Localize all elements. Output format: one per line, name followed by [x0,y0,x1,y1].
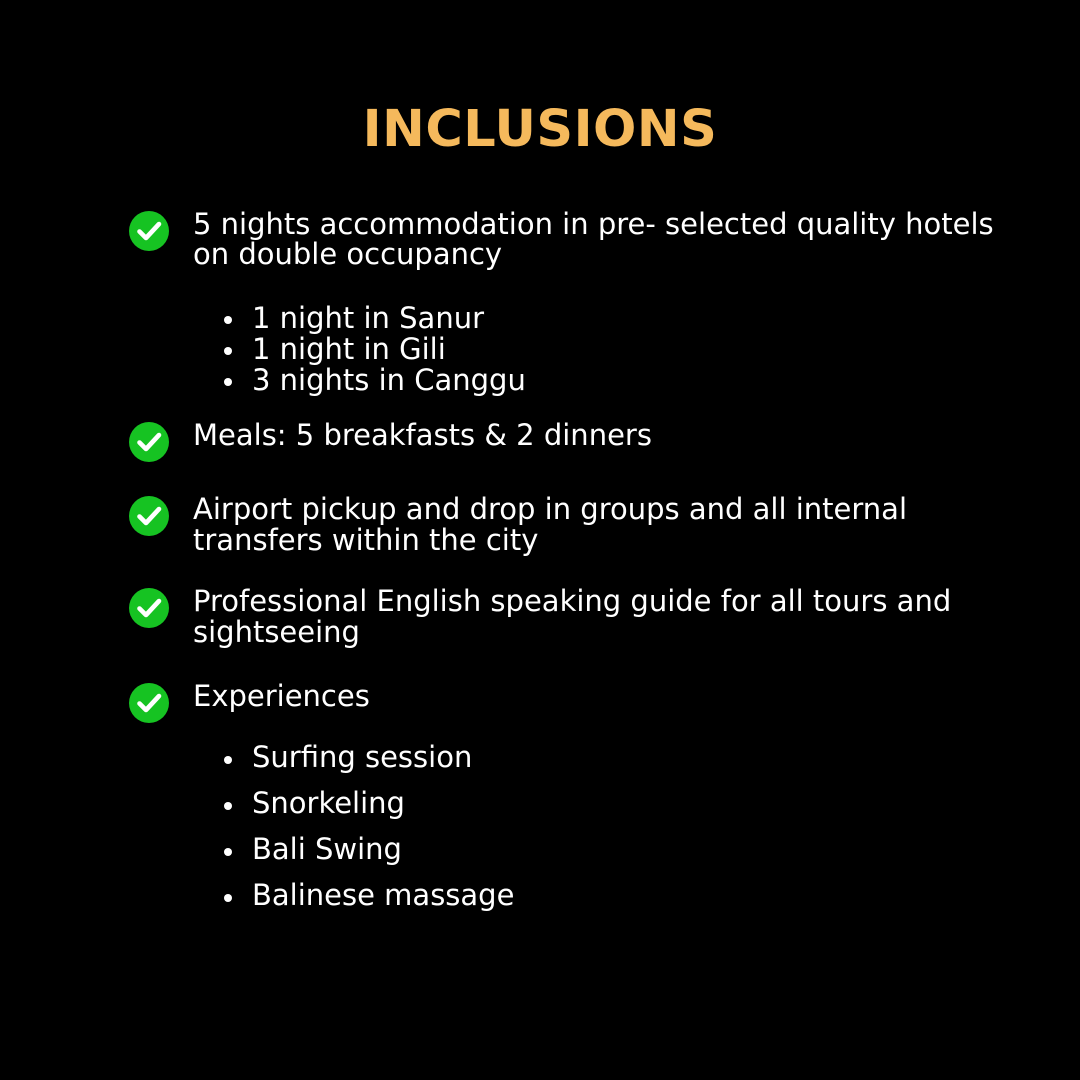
sublist-accommodation: 1 night in Sanur 1 night in Gili 3 night… [224,303,1038,395]
list-item: 1 night in Sanur [224,303,1038,333]
spacer [128,555,1038,584]
list-item: Balinese massage [224,881,1038,910]
list-item: 3 nights in Canggu [224,365,1038,395]
list-item: Bali Swing [224,835,1038,864]
inclusions-list: 5 nights accommodation in pre- selected … [128,207,1038,927]
check-circle-icon [128,682,170,724]
list-item: 1 night in Gili [224,334,1038,364]
list-item-label: Meals: 5 breakfasts & 2 dinners [193,418,1038,450]
spacer [128,647,1038,679]
inclusions-slide: INCLUSIONS 5 nights accommodation in pre… [0,0,1080,1080]
list-item-meals: Meals: 5 breakfasts & 2 dinners [128,418,1038,463]
list-item-label: Airport pickup and drop in groups and al… [193,492,1038,555]
list-item-accommodation: 5 nights accommodation in pre- selected … [128,207,1038,270]
spacer [128,463,1038,492]
check-circle-icon [128,495,170,537]
list-item-label: Experiences [193,679,1038,711]
page-title: INCLUSIONS [0,104,1080,155]
list-item: Snorkeling [224,789,1038,818]
check-circle-icon [128,587,170,629]
check-circle-icon [128,210,170,252]
sublist-experiences: Surfing session Snorkeling Bali Swing Ba… [224,743,1038,910]
list-item-experiences: Experiences [128,679,1038,724]
list-item: Surfing session [224,743,1038,772]
list-item-guide: Professional English speaking guide for … [128,584,1038,647]
check-circle-icon [128,421,170,463]
list-item-transfers: Airport pickup and drop in groups and al… [128,492,1038,555]
list-item-label: 5 nights accommodation in pre- selected … [193,207,1038,270]
list-item-label: Professional English speaking guide for … [193,584,1038,647]
